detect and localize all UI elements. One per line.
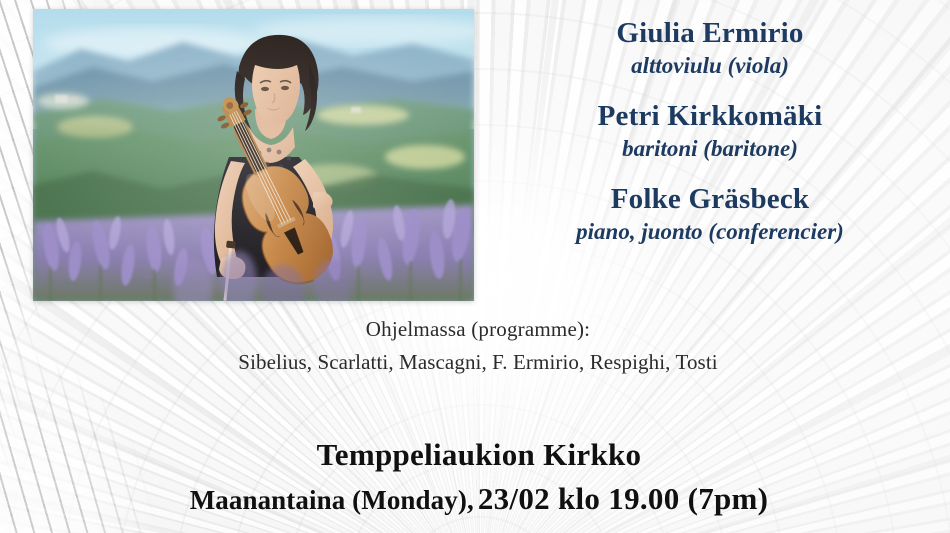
event-datetime: Maanantaina (Monday), 23/02 klo 19.00 (7… xyxy=(60,482,898,516)
performer-role-3: piano, juonto (conferencier) xyxy=(478,218,942,247)
performer-name-3: Folke Gräsbeck xyxy=(478,182,942,216)
programme-section: Ohjelmassa (programme): Sibelius, Scarla… xyxy=(120,316,836,377)
programme-heading: Ohjelmassa (programme): xyxy=(120,316,836,343)
violist-photo-artwork xyxy=(33,9,474,301)
venue-name: Temppeliaukion Kirkko xyxy=(60,437,898,473)
performer-entry-3: Folke Gräsbeck piano, juonto (conferenci… xyxy=(478,182,942,247)
event-time: 23/02 klo 19.00 (7pm) xyxy=(478,481,768,516)
performer-entry-1: Giulia Ermirio alttoviulu (viola) xyxy=(478,16,942,81)
programme-composers: Sibelius, Scarlatti, Mascagni, F. Ermiri… xyxy=(120,348,836,376)
violist-photo xyxy=(33,9,474,301)
concert-poster: Giulia Ermirio alttoviulu (viola) Petri … xyxy=(0,0,950,533)
venue-section: Temppeliaukion Kirkko Maanantaina (Monda… xyxy=(60,437,898,516)
performer-name-1: Giulia Ermirio xyxy=(478,16,942,50)
performer-list: Giulia Ermirio alttoviulu (viola) Petri … xyxy=(478,16,942,247)
event-day: Maanantaina (Monday), xyxy=(190,485,474,515)
performer-role-2: baritoni (baritone) xyxy=(478,135,942,164)
performer-role-1: alttoviulu (viola) xyxy=(478,52,942,81)
performer-entry-2: Petri Kirkkomäki baritoni (baritone) xyxy=(478,99,942,164)
performer-name-2: Petri Kirkkomäki xyxy=(478,99,942,133)
